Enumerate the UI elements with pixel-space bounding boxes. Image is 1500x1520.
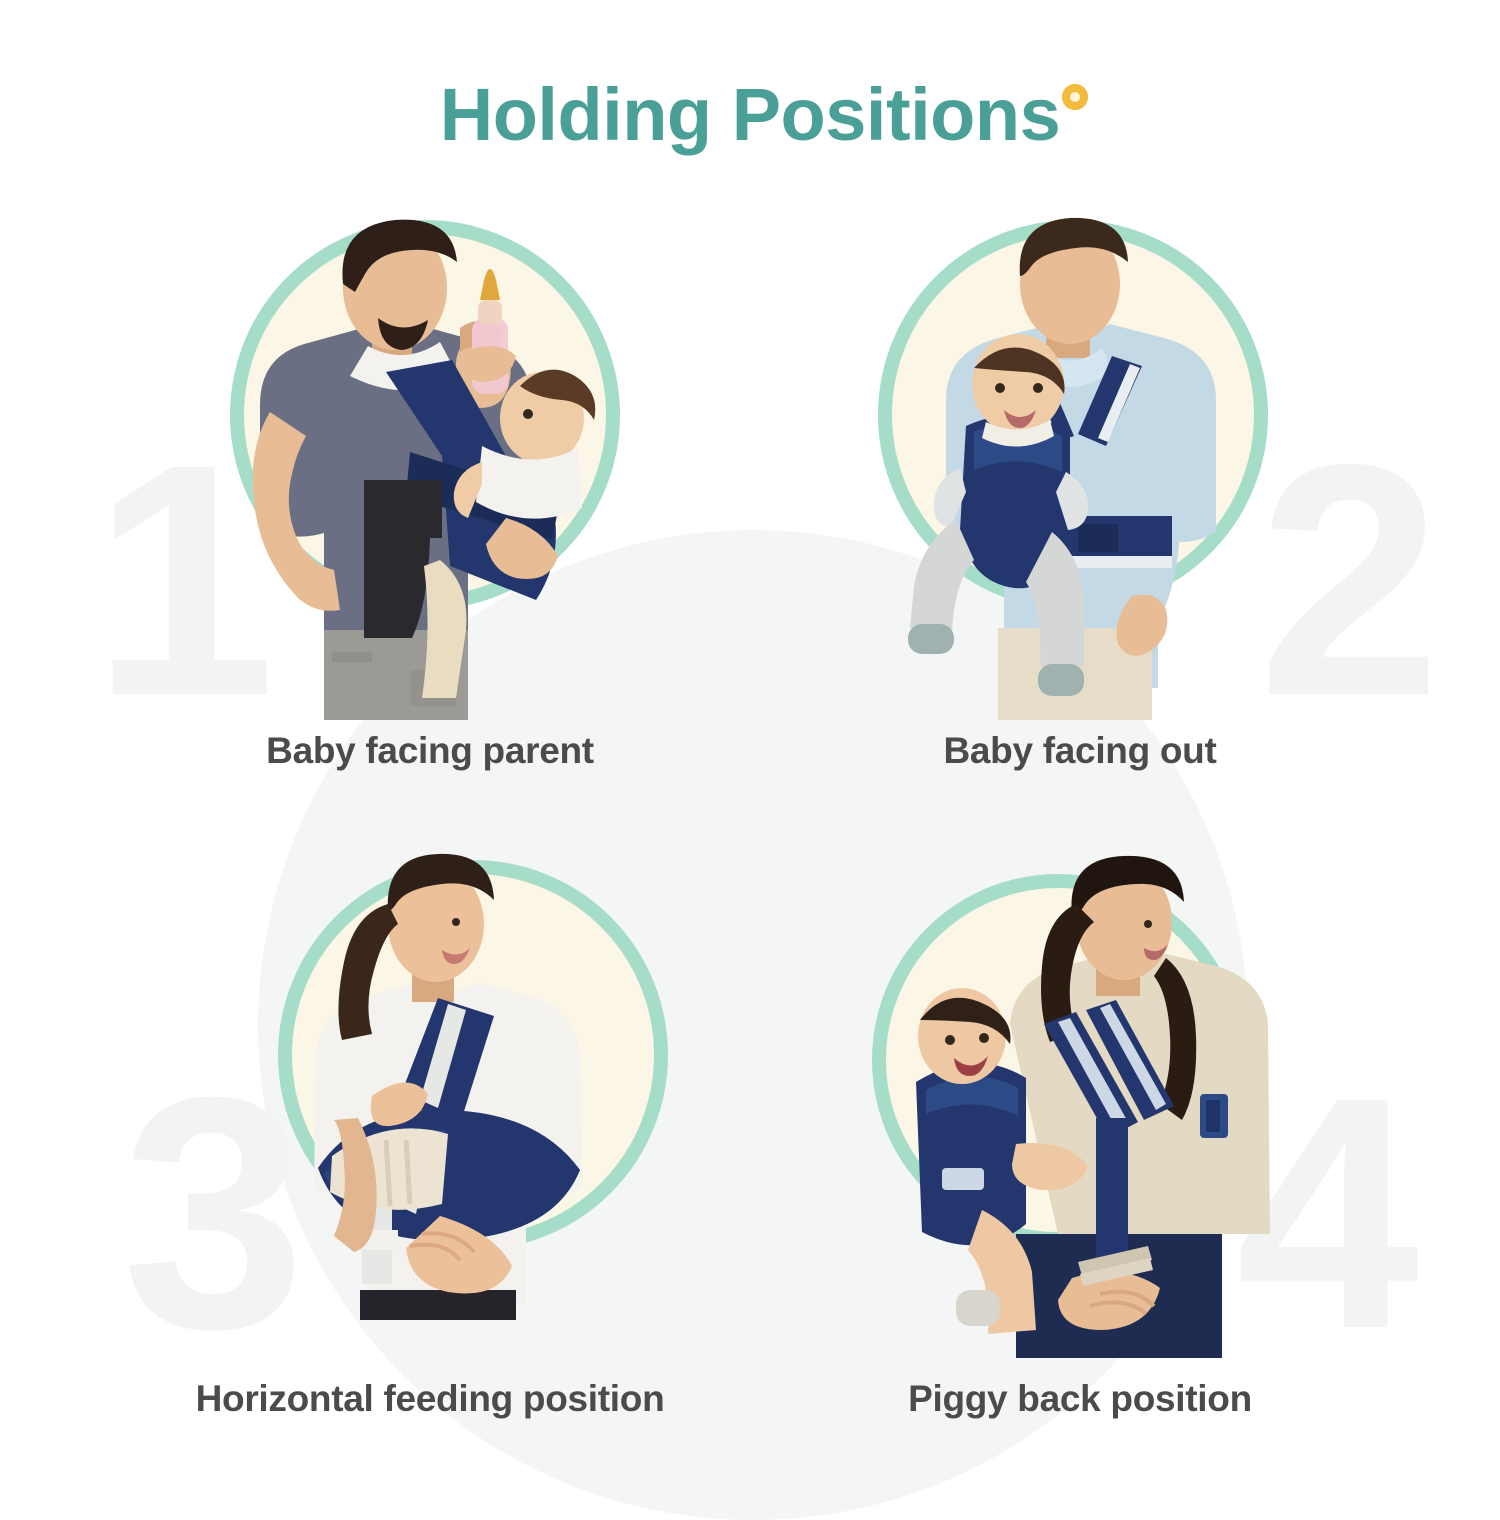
photo-horizontal-feeding [110, 838, 750, 1358]
photo-baby-facing-parent [110, 200, 750, 720]
position-card-1[interactable]: Baby facing parent [110, 200, 750, 840]
illustration-1 [110, 200, 750, 720]
page-title: Holding Positions [440, 78, 1060, 152]
position-caption-2: Baby facing out [760, 730, 1400, 772]
position-caption-3: Horizontal feeding position [110, 1378, 750, 1420]
illustration-4 [760, 838, 1400, 1358]
infographic-canvas: Holding Positions 1 2 3 4 [0, 0, 1500, 1500]
illustration-3 [110, 838, 750, 1358]
page-title-text: Holding Positions [440, 73, 1060, 156]
illustration-2 [760, 200, 1400, 720]
orange-ring-accent-icon [1062, 84, 1088, 110]
position-card-3[interactable]: Horizontal feeding position [110, 838, 750, 1478]
position-card-4[interactable]: Piggy back position [760, 838, 1400, 1478]
page-title-container: Holding Positions [0, 78, 1500, 152]
position-caption-1: Baby facing parent [110, 730, 750, 772]
photo-baby-facing-out [760, 200, 1400, 720]
position-caption-4: Piggy back position [760, 1378, 1400, 1420]
photo-piggy-back [760, 838, 1400, 1358]
position-card-2[interactable]: Baby facing out [760, 200, 1400, 840]
